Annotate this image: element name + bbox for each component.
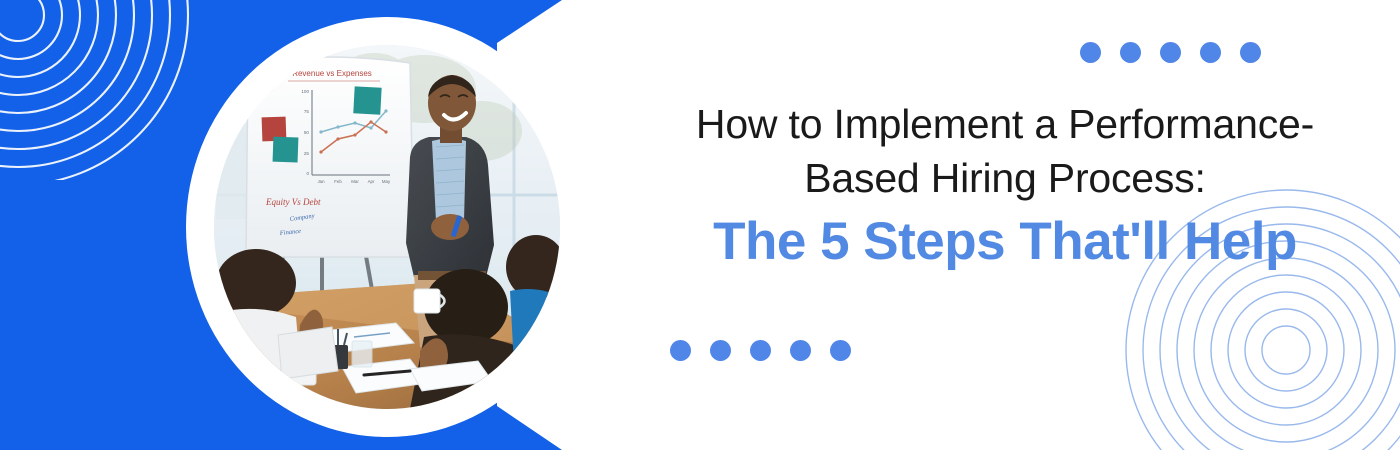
decorative-dot-row-bottom	[670, 340, 851, 361]
decorative-dot-row-top	[1080, 42, 1261, 63]
headline-content: How to Implement a Performance- Based Hi…	[610, 0, 1400, 450]
decorative-dot	[830, 340, 851, 361]
decorative-dot	[750, 340, 771, 361]
business-meeting-photo: Revenue vs Expenses 100 75 50 25 0	[214, 45, 560, 409]
decorative-dot	[670, 340, 691, 361]
decorative-dot	[790, 340, 811, 361]
headline-line-2: Based Hiring Process:	[655, 151, 1355, 205]
decorative-dot	[1120, 42, 1141, 63]
decorative-dot	[1080, 42, 1101, 63]
decorative-dot	[710, 340, 731, 361]
decorative-dot	[1240, 42, 1261, 63]
headline-accent: The 5 Steps That'll Help	[655, 211, 1355, 274]
decorative-dot	[1160, 42, 1181, 63]
headline-line-1: How to Implement a Performance-	[655, 97, 1355, 151]
page-title: How to Implement a Performance- Based Hi…	[655, 97, 1355, 274]
decorative-dot	[1200, 42, 1221, 63]
blog-header-banner: Revenue vs Expenses 100 75 50 25 0	[0, 0, 1400, 450]
photo-ring: Revenue vs Expenses 100 75 50 25 0	[186, 17, 588, 437]
